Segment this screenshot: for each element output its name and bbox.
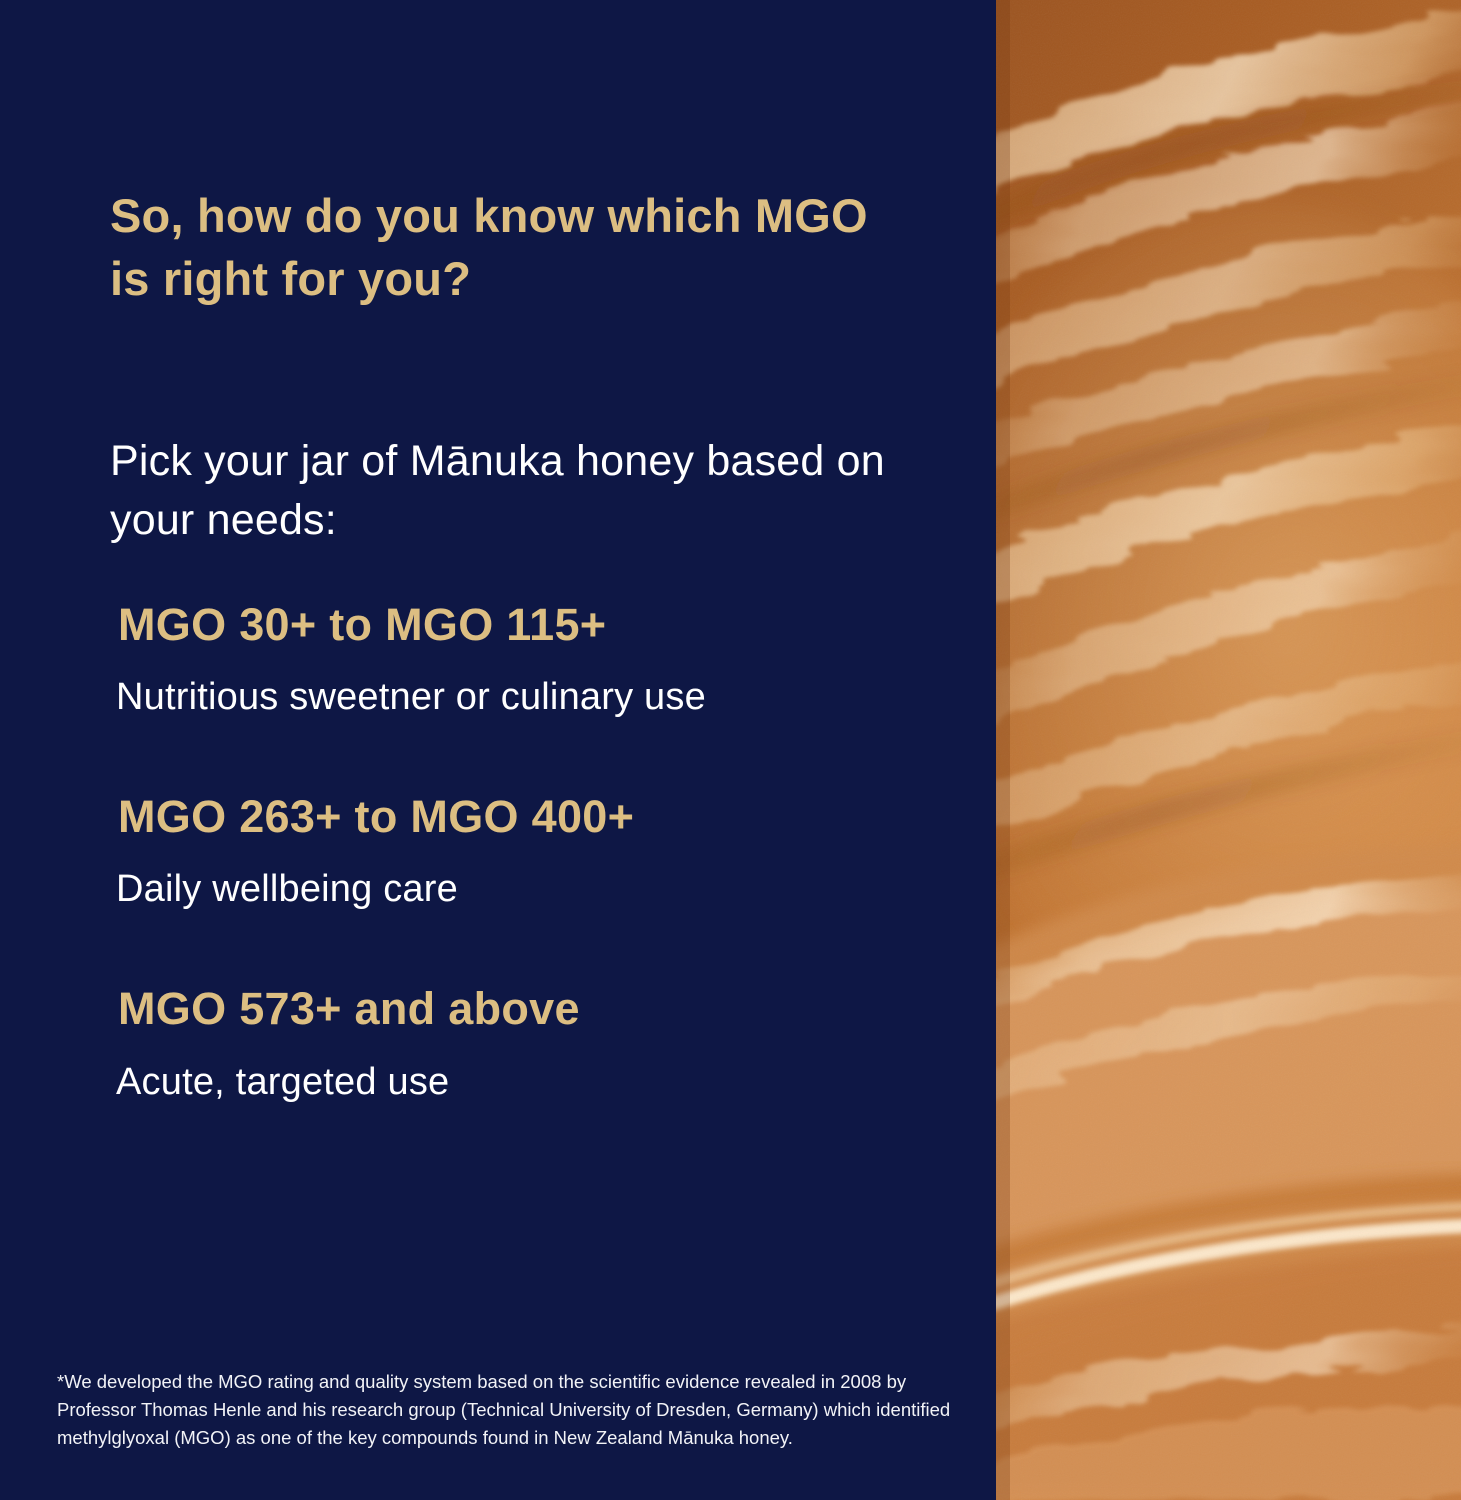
mgo-tier-list: MGO 30+ to MGO 115+ Nutritious sweetner … xyxy=(110,600,950,1108)
mgo-tier-title: MGO 573+ and above xyxy=(118,984,950,1034)
content-panel: So, how do you know which MGO is right f… xyxy=(0,0,996,1500)
mgo-tier-title: MGO 263+ to MGO 400+ xyxy=(118,792,950,842)
footnote-text: *We developed the MGO rating and quality… xyxy=(57,1368,957,1452)
mgo-tier-title: MGO 30+ to MGO 115+ xyxy=(118,600,950,650)
footnote: *We developed the MGO rating and quality… xyxy=(57,1368,957,1452)
mgo-tier-description: Acute, targeted use xyxy=(116,1057,950,1109)
mgo-tier-item: MGO 263+ to MGO 400+ Daily wellbeing car… xyxy=(110,792,950,916)
page-title: So, how do you know which MGO is right f… xyxy=(110,185,910,309)
mgo-tier-description: Nutritious sweetner or culinary use xyxy=(116,672,950,724)
mgo-guide-poster: So, how do you know which MGO is right f… xyxy=(0,0,1461,1500)
subheading: Pick your jar of Mānuka honey based on y… xyxy=(110,432,930,551)
mgo-tier-item: MGO 30+ to MGO 115+ Nutritious sweetner … xyxy=(110,600,950,724)
mgo-tier-item: MGO 573+ and above Acute, targeted use xyxy=(110,984,950,1108)
honey-texture-image xyxy=(996,0,1461,1500)
mgo-tier-description: Daily wellbeing care xyxy=(116,864,950,916)
